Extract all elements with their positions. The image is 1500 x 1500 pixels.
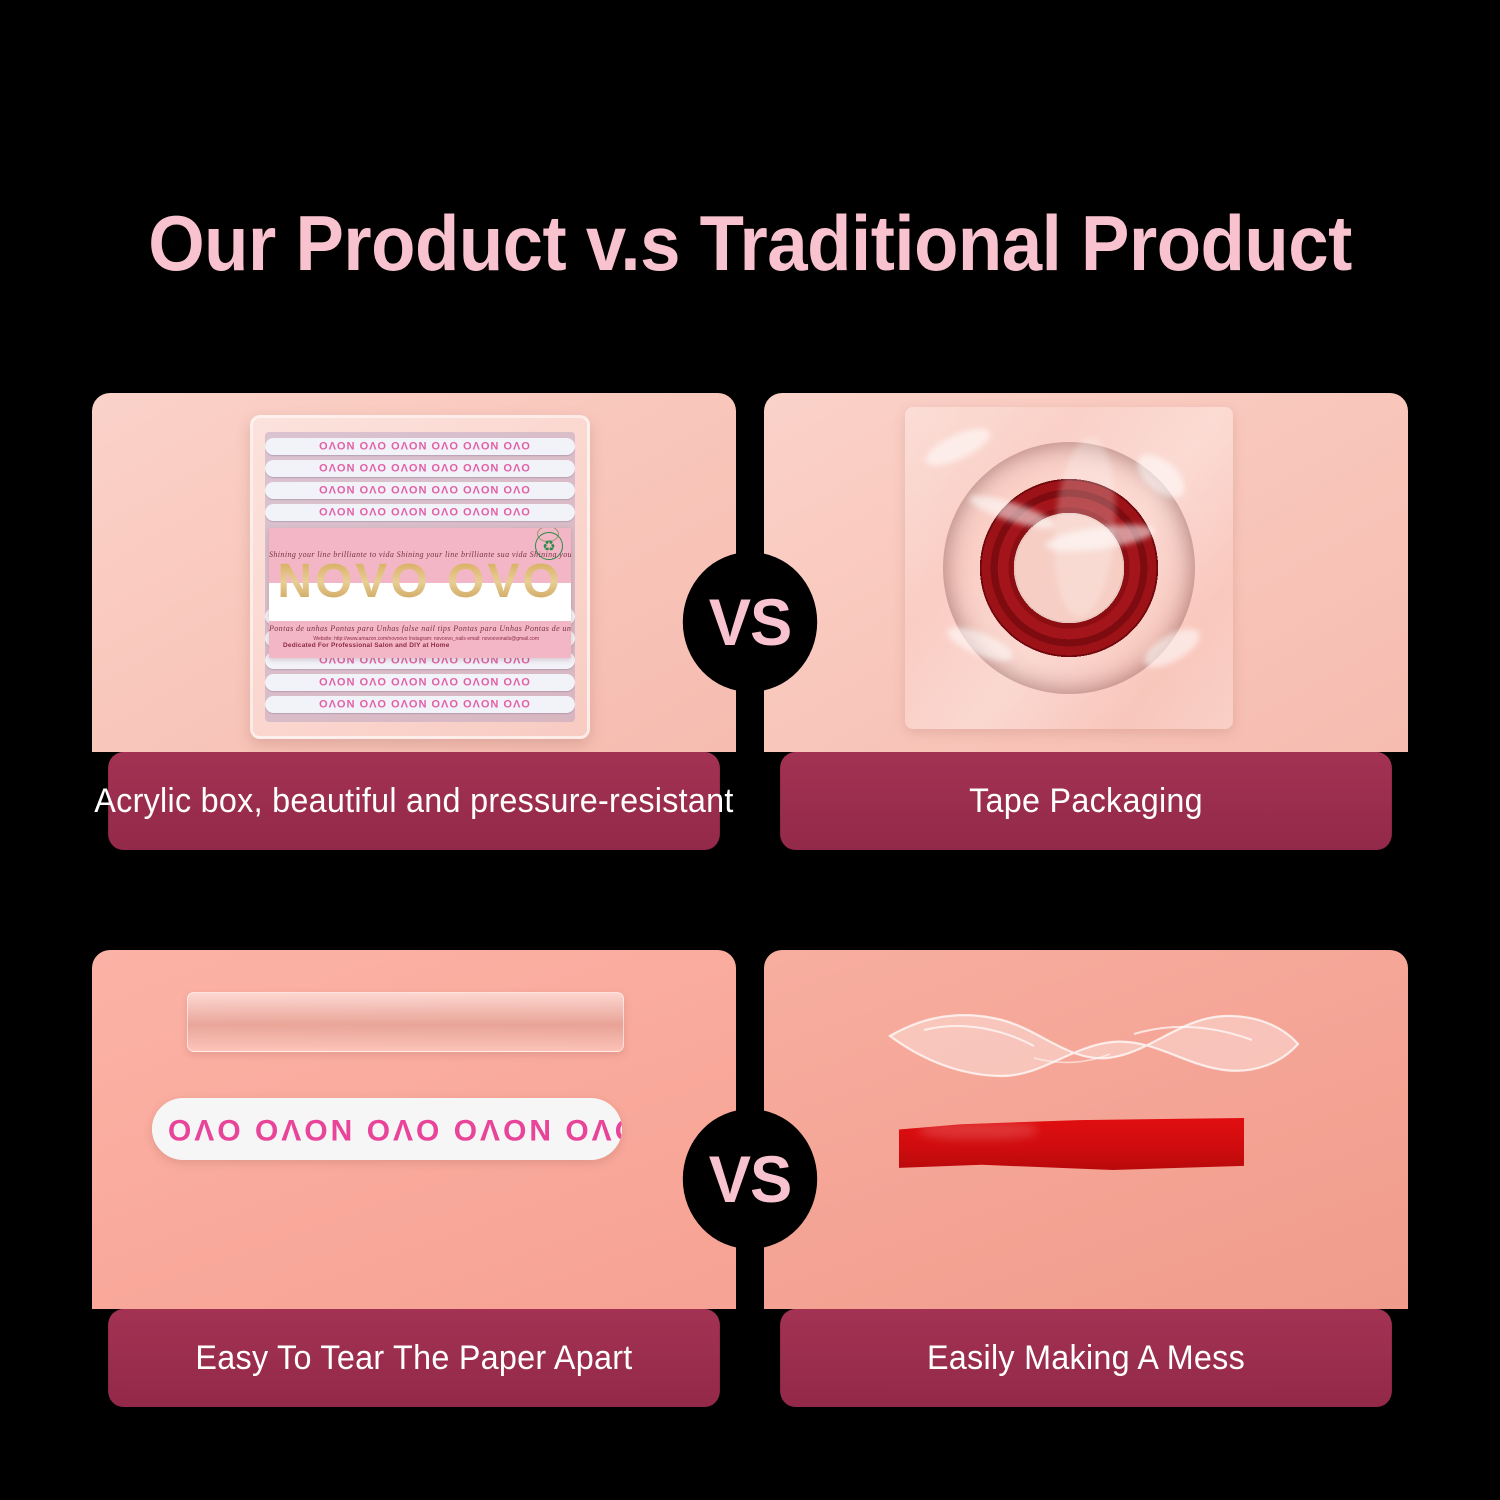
box-interior: Shining your line brilliante to vida Shi… [265, 432, 575, 722]
comparison-card-our-product[interactable]: Shining your line brilliante to vida Shi… [92, 393, 736, 850]
product-photo-peel-strip: OVO NOVO OVO NOVO OVO NOVO OVO [92, 950, 736, 1309]
comparison-row: OVO NOVO OVO NOVO OVO NOVO OVO Easy To T… [92, 950, 1408, 1407]
card-caption: Easy To Tear The Paper Apart [108, 1309, 720, 1407]
nail-tab-strip [265, 674, 575, 691]
nail-tab-strip [265, 460, 575, 477]
red-tape-strip [899, 1118, 1244, 1170]
brand-name: NOVO OVO [269, 558, 571, 606]
comparison-card-traditional-mess[interactable]: Easily Making A Mess [764, 950, 1408, 1407]
card-caption: Easily Making A Mess [780, 1309, 1392, 1407]
product-label: Shining your line brilliante to vida Shi… [269, 528, 571, 658]
poly-bag-graphic [905, 407, 1233, 729]
product-photo-tape-packaging [764, 393, 1408, 752]
clear-tape-shape-icon [884, 1000, 1304, 1092]
acrylic-box-graphic: Shining your line brilliante to vida Shi… [250, 415, 590, 739]
vs-badge: VS [683, 552, 817, 692]
comparison-grid: Shining your line brilliante to vida Shi… [92, 393, 1408, 1407]
card-caption: Acrylic box, beautiful and pressure-resi… [108, 752, 720, 850]
nail-tab-strip [265, 482, 575, 499]
label-tagline: Dedicated For Professional Salon and DIY… [283, 642, 450, 649]
crumpled-clear-tape-graphic [884, 1000, 1304, 1092]
comparison-card-our-tear-strip[interactable]: OVO NOVO OVO NOVO OVO NOVO OVO Easy To T… [92, 950, 736, 1407]
nail-tab-strip [265, 504, 575, 521]
label-contact: Website: http://www.amazon.com/novoovo I… [313, 636, 539, 643]
comparison-card-traditional-product[interactable]: Tape Packaging [764, 393, 1408, 850]
comparison-row: Shining your line brilliante to vida Shi… [92, 393, 1408, 850]
nail-tab-strips-top [265, 438, 575, 526]
label-script-bottom: Pontas de unhas Pontas para Unhas false … [269, 624, 571, 633]
backing-paper-text: OVO NOVO OVO NOVO OVO NOVO OVO [178, 1100, 622, 1158]
page-title: Our Product v.s Traditional Product [53, 204, 1448, 282]
vs-badge: VS [683, 1109, 817, 1249]
product-photo-acrylic-box: Shining your line brilliante to vida Shi… [92, 393, 736, 752]
card-caption: Tape Packaging [780, 752, 1392, 850]
backing-paper-strip: OVO NOVO OVO NOVO OVO NOVO OVO [152, 1098, 622, 1160]
product-photo-tape-mess [764, 950, 1408, 1309]
nail-tab-strip [265, 696, 575, 713]
bag-wrinkle [921, 421, 995, 472]
nail-tab-strip [265, 438, 575, 455]
recycle-icon: ♻ [535, 532, 563, 560]
clear-adhesive-strip [187, 992, 624, 1052]
